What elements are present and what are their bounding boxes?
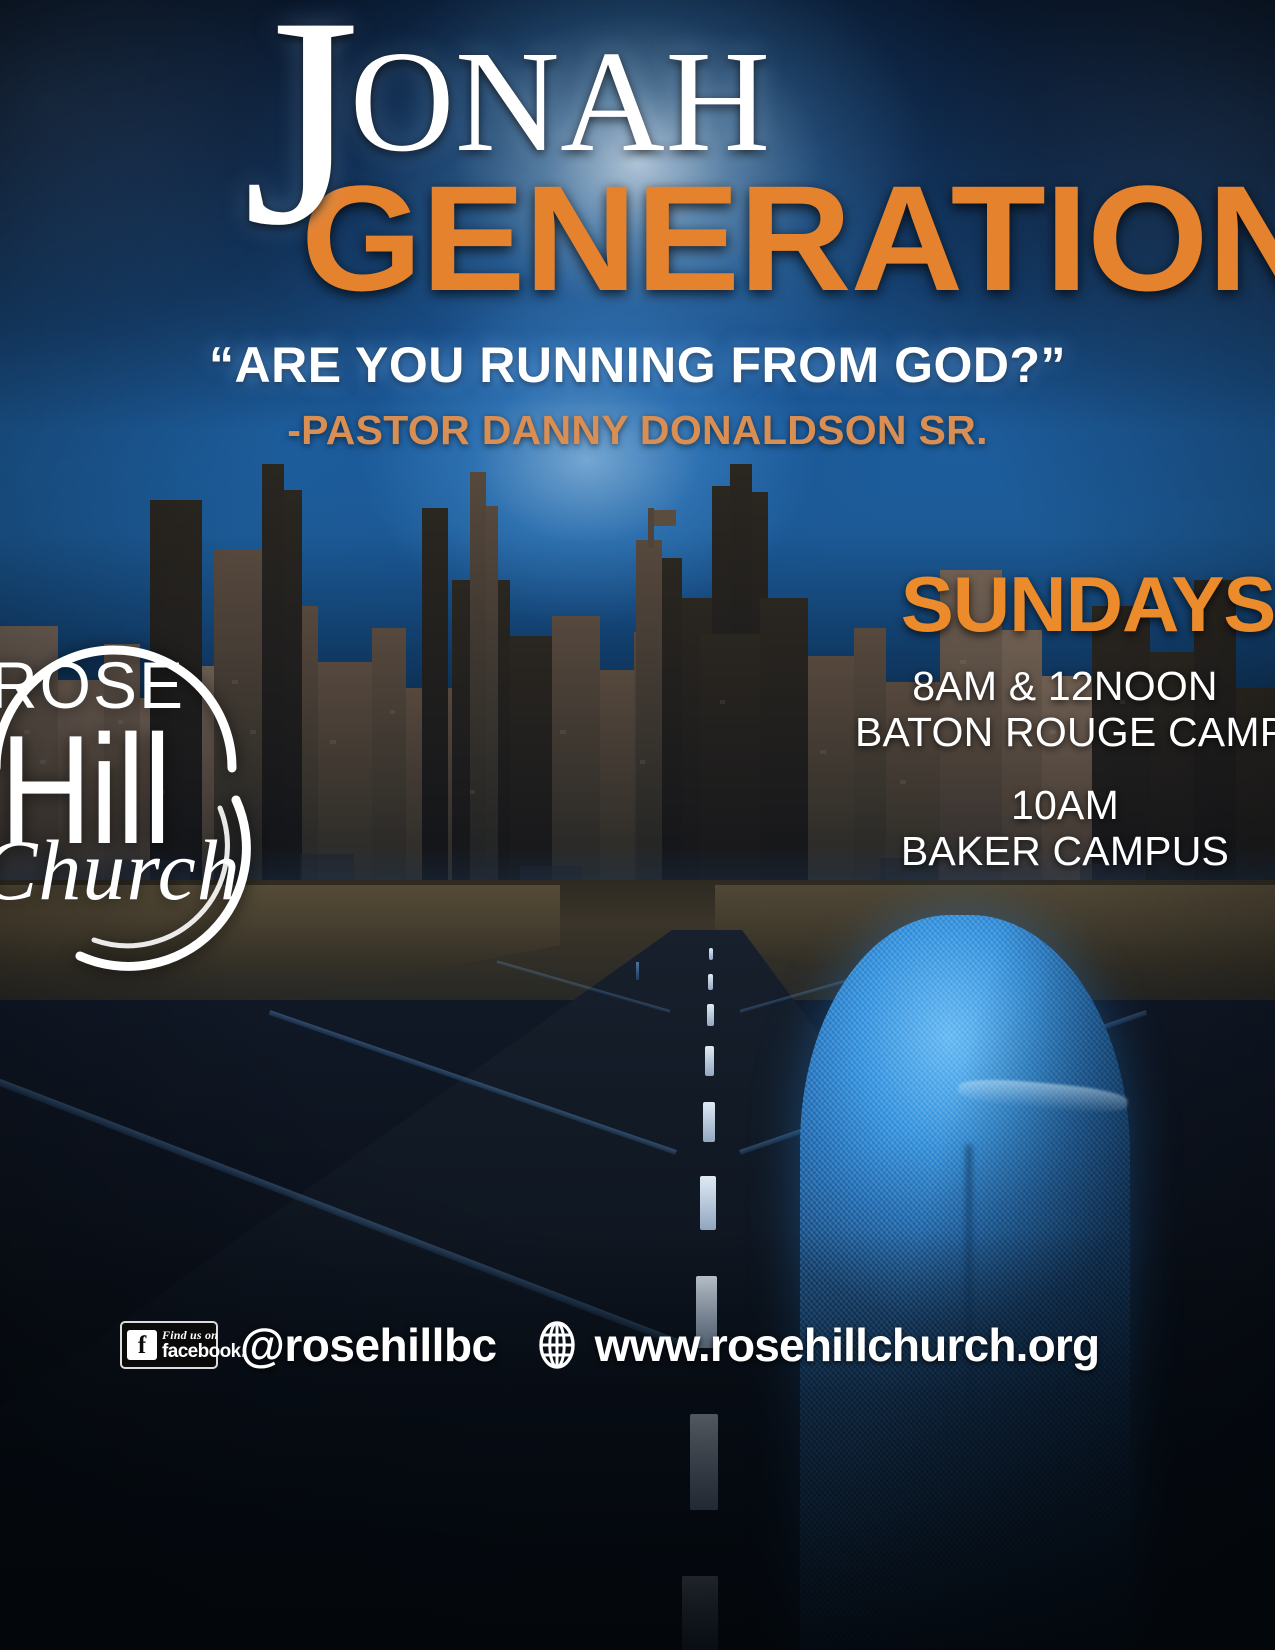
logo-word-church: Church — [0, 827, 241, 913]
service-times-spacer — [855, 756, 1275, 782]
social-row: f Find us on facebook. @rosehillbc www.r… — [120, 1318, 1099, 1372]
facebook-badge-bottom-label: facebook. — [162, 1342, 245, 1361]
road-dash — [700, 1176, 716, 1230]
hoodie-crease — [966, 1145, 972, 1475]
service-entry-1-campus: BATON ROUGE CAMPUS — [855, 709, 1275, 755]
road-dash — [709, 948, 713, 960]
facebook-handle[interactable]: @rosehillbc — [240, 1318, 497, 1372]
title-byline-pastor: -PASTOR DANNY DONALDSON SR. — [0, 410, 1275, 451]
title-tagline: “ARE YOU RUNNING FROM GOD?” — [0, 340, 1275, 390]
hooded-figure — [770, 915, 1200, 1650]
service-entry-2-time: 10AM — [855, 782, 1275, 828]
road-dash — [708, 974, 713, 990]
globe-icon — [533, 1321, 581, 1369]
title-jonah: JONAH — [243, 34, 771, 170]
road-dash — [705, 1046, 714, 1076]
poster-canvas: JONAH GENERATION “ARE YOU RUNNING FROM G… — [0, 0, 1275, 1650]
road-edge-line — [636, 962, 639, 980]
road-dash — [682, 1576, 718, 1650]
facebook-f-icon: f — [127, 1330, 157, 1360]
service-entry-1: 8AM & 12NOON BATON ROUGE CAMPUS — [855, 663, 1275, 756]
facebook-badge-text: Find us on facebook. — [162, 1329, 245, 1361]
title-jonah-dropcap: J — [243, 0, 356, 287]
facebook-badge[interactable]: f Find us on facebook. — [120, 1321, 218, 1369]
website-url[interactable]: www.rosehillchurch.org — [595, 1318, 1100, 1372]
rose-hill-church-logo[interactable]: ROSE Hill Church — [0, 572, 254, 982]
facebook-badge-top-label: Find us on — [162, 1329, 245, 1341]
hoodie-shading — [800, 915, 1130, 1650]
road-dash — [707, 1004, 714, 1026]
title-generation: GENERATION — [301, 163, 1275, 313]
road-dash — [703, 1102, 715, 1142]
service-entry-2-campus: BAKER CAMPUS — [855, 828, 1275, 874]
road-dash — [690, 1414, 718, 1510]
title-jonah-rest: ONAH — [350, 22, 771, 182]
service-entry-1-time: 8AM & 12NOON — [855, 663, 1275, 709]
service-times-block: SUNDAYS 8AM & 12NOON BATON ROUGE CAMPUS … — [855, 565, 1275, 874]
service-times-heading: SUNDAYS — [897, 565, 1275, 643]
service-entry-2: 10AM BAKER CAMPUS — [855, 782, 1275, 875]
